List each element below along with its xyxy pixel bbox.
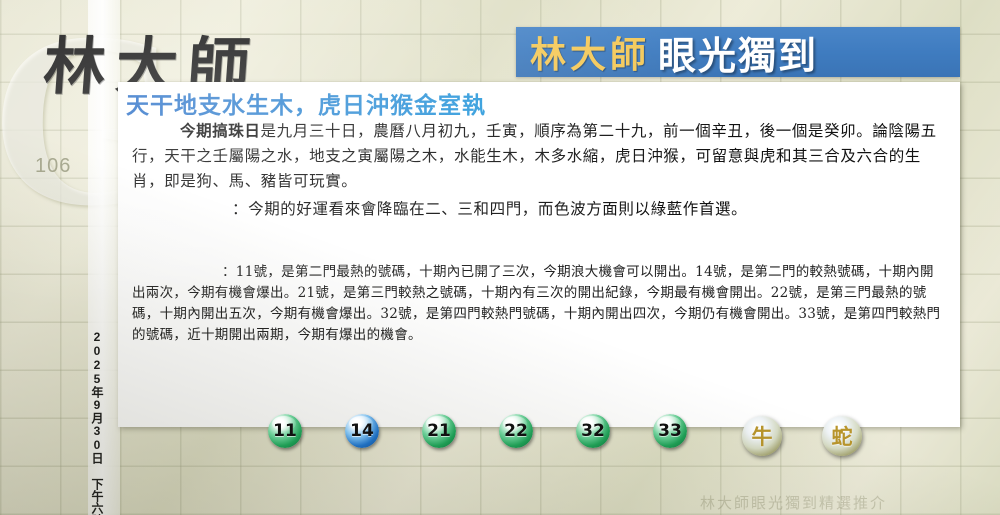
article-headline: 天干地支水生木，虎日沖猴金室執: [126, 86, 946, 120]
zodiac-ball[interactable]: 蛇: [822, 416, 862, 456]
banner-slogan: 眼光獨到: [658, 25, 818, 80]
article-paragraph-2: ：今期的好運看來會降臨在二、三和四門，而色波方面則以綠藍作首選。: [132, 197, 946, 222]
article-paragraph-3: ：11號，是第二門最熱的號碼，十期內已開了三次，今期浪大機會可以開出。14號，是…: [132, 262, 946, 346]
recommended-numbers: 11 14 21 22 32 33: [268, 414, 687, 448]
number-ball[interactable]: 14: [345, 414, 379, 448]
paragraph-2-body: ：今期的好運看來會降臨在二、三和四門，而色波方面則以綠藍作首選。: [232, 200, 747, 218]
recommended-zodiacs: 牛 蛇: [742, 416, 862, 456]
promo-banner: 林大師 眼光獨到: [516, 27, 960, 77]
page-number: 106: [35, 155, 71, 178]
number-ball[interactable]: 22: [499, 414, 533, 448]
zodiac-ball[interactable]: 牛: [742, 416, 782, 456]
update-timestamp: 2025年9月30日 下午六時更新: [86, 330, 106, 515]
footer-watermark: 林大師眼光獨到精選推介: [700, 492, 887, 513]
number-ball[interactable]: 11: [268, 414, 302, 448]
paragraph-3-body: ：11號，是第二門最熱的號碼，十期內已開了三次，今期浪大機會可以開出。14號，是…: [132, 264, 940, 343]
banner-brand: 林大師: [516, 26, 650, 78]
paragraph-1-lead: 今期搞珠日: [180, 121, 261, 140]
number-ball[interactable]: 33: [653, 414, 687, 448]
number-ball[interactable]: 21: [422, 414, 456, 448]
article-paragraph-1: 今期搞珠日是九月三十日，農曆八月初九，壬寅，順序為第二十九，前一個辛丑，後一個是…: [132, 118, 946, 194]
page-root: G 106 2025年9月30日 下午六時更新 林大師 林大師 眼光獨到 天干地…: [0, 0, 1000, 515]
article-sheet: 天干地支水生木，虎日沖猴金室執 今期搞珠日是九月三十日，農曆八月初九，壬寅，順序…: [118, 82, 960, 427]
number-ball[interactable]: 32: [576, 414, 610, 448]
